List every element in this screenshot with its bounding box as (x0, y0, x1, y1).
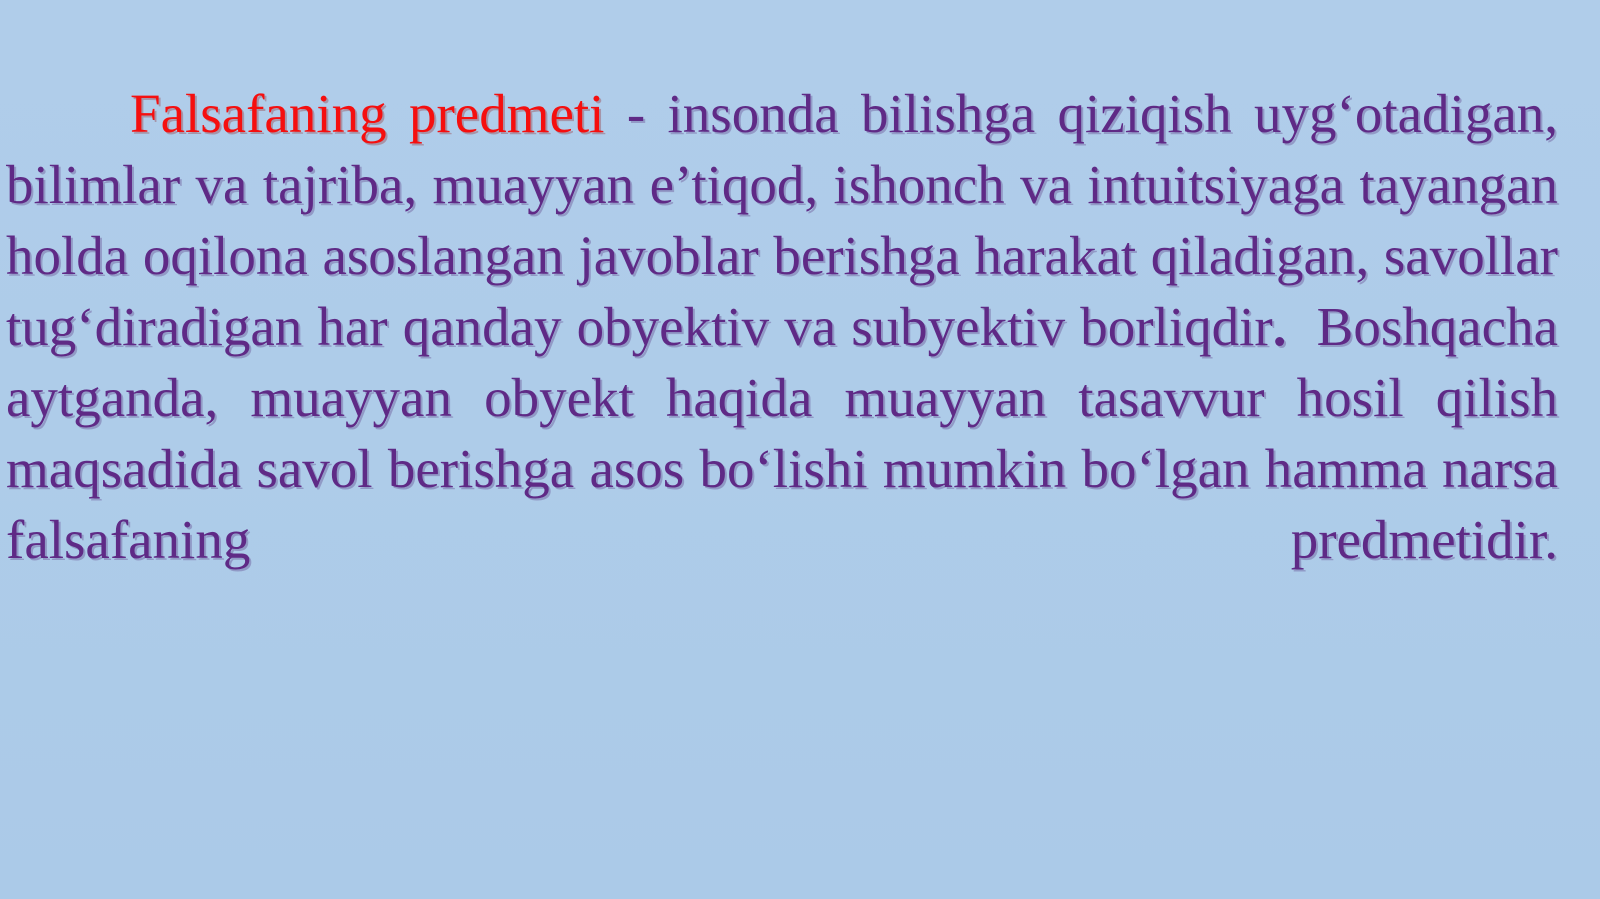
term-separator: - (604, 83, 667, 144)
slide-canvas: Falsafaning predmeti - insonda bilishga … (0, 0, 1600, 899)
slide-body-content: Falsafaning predmeti - insonda bilishga … (0, 78, 1562, 646)
definition-paragraph: Falsafaning predmeti - insonda bilishga … (6, 78, 1558, 646)
defined-term: Falsafaning predmeti (130, 83, 604, 144)
sentence-stop: . (1273, 296, 1287, 357)
